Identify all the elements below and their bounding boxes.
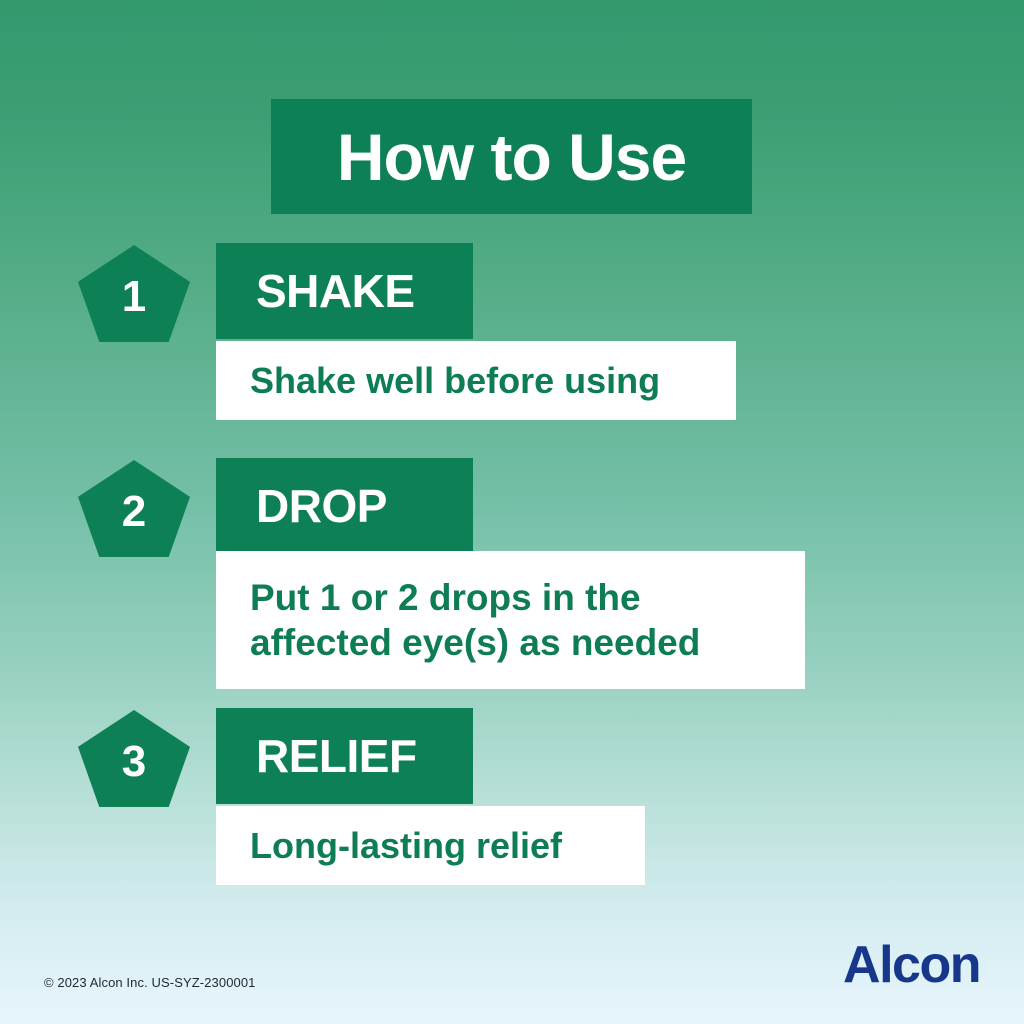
step-body-text: Shake well before using xyxy=(216,359,678,403)
copyright-notice: © 2023 Alcon Inc. US-SYZ-2300001 xyxy=(44,975,256,990)
step-number-label: 2 xyxy=(122,490,146,534)
step-heading-label: RELIEF xyxy=(216,733,417,779)
step-body-line: Long-lasting relief xyxy=(250,825,562,866)
step-number-label: 1 xyxy=(122,275,146,319)
alcon-logo: Alcon xyxy=(843,939,980,991)
step-body-line: Shake well before using xyxy=(250,360,660,401)
step-body-block-3: Long-lasting relief xyxy=(216,806,645,885)
how-to-use-poster: How to Use 1 SHAKE Shake well before usi… xyxy=(0,0,1024,1024)
step-heading-block-3: RELIEF xyxy=(216,708,473,804)
step-body-block-2: Put 1 or 2 drops in the affected eye(s) … xyxy=(216,551,805,689)
step-number-badge-1: 1 xyxy=(78,245,190,342)
step-body-text: Long-lasting relief xyxy=(216,824,580,868)
step-heading-block-1: SHAKE xyxy=(216,243,473,339)
step-heading-label: SHAKE xyxy=(216,268,415,314)
page-title: How to Use xyxy=(337,124,686,190)
step-body-text: Put 1 or 2 drops in the affected eye(s) … xyxy=(216,575,718,665)
step-body-line: Put 1 or 2 drops in the xyxy=(250,575,700,620)
step-number-badge-3: 3 xyxy=(78,710,190,807)
step-body-block-1: Shake well before using xyxy=(216,341,736,420)
step-number-label: 3 xyxy=(122,740,146,784)
step-body-line: affected eye(s) as needed xyxy=(250,620,700,665)
poster-title-block: How to Use xyxy=(271,99,752,214)
step-number-badge-2: 2 xyxy=(78,460,190,557)
step-heading-label: DROP xyxy=(216,483,387,529)
step-heading-block-2: DROP xyxy=(216,458,473,553)
